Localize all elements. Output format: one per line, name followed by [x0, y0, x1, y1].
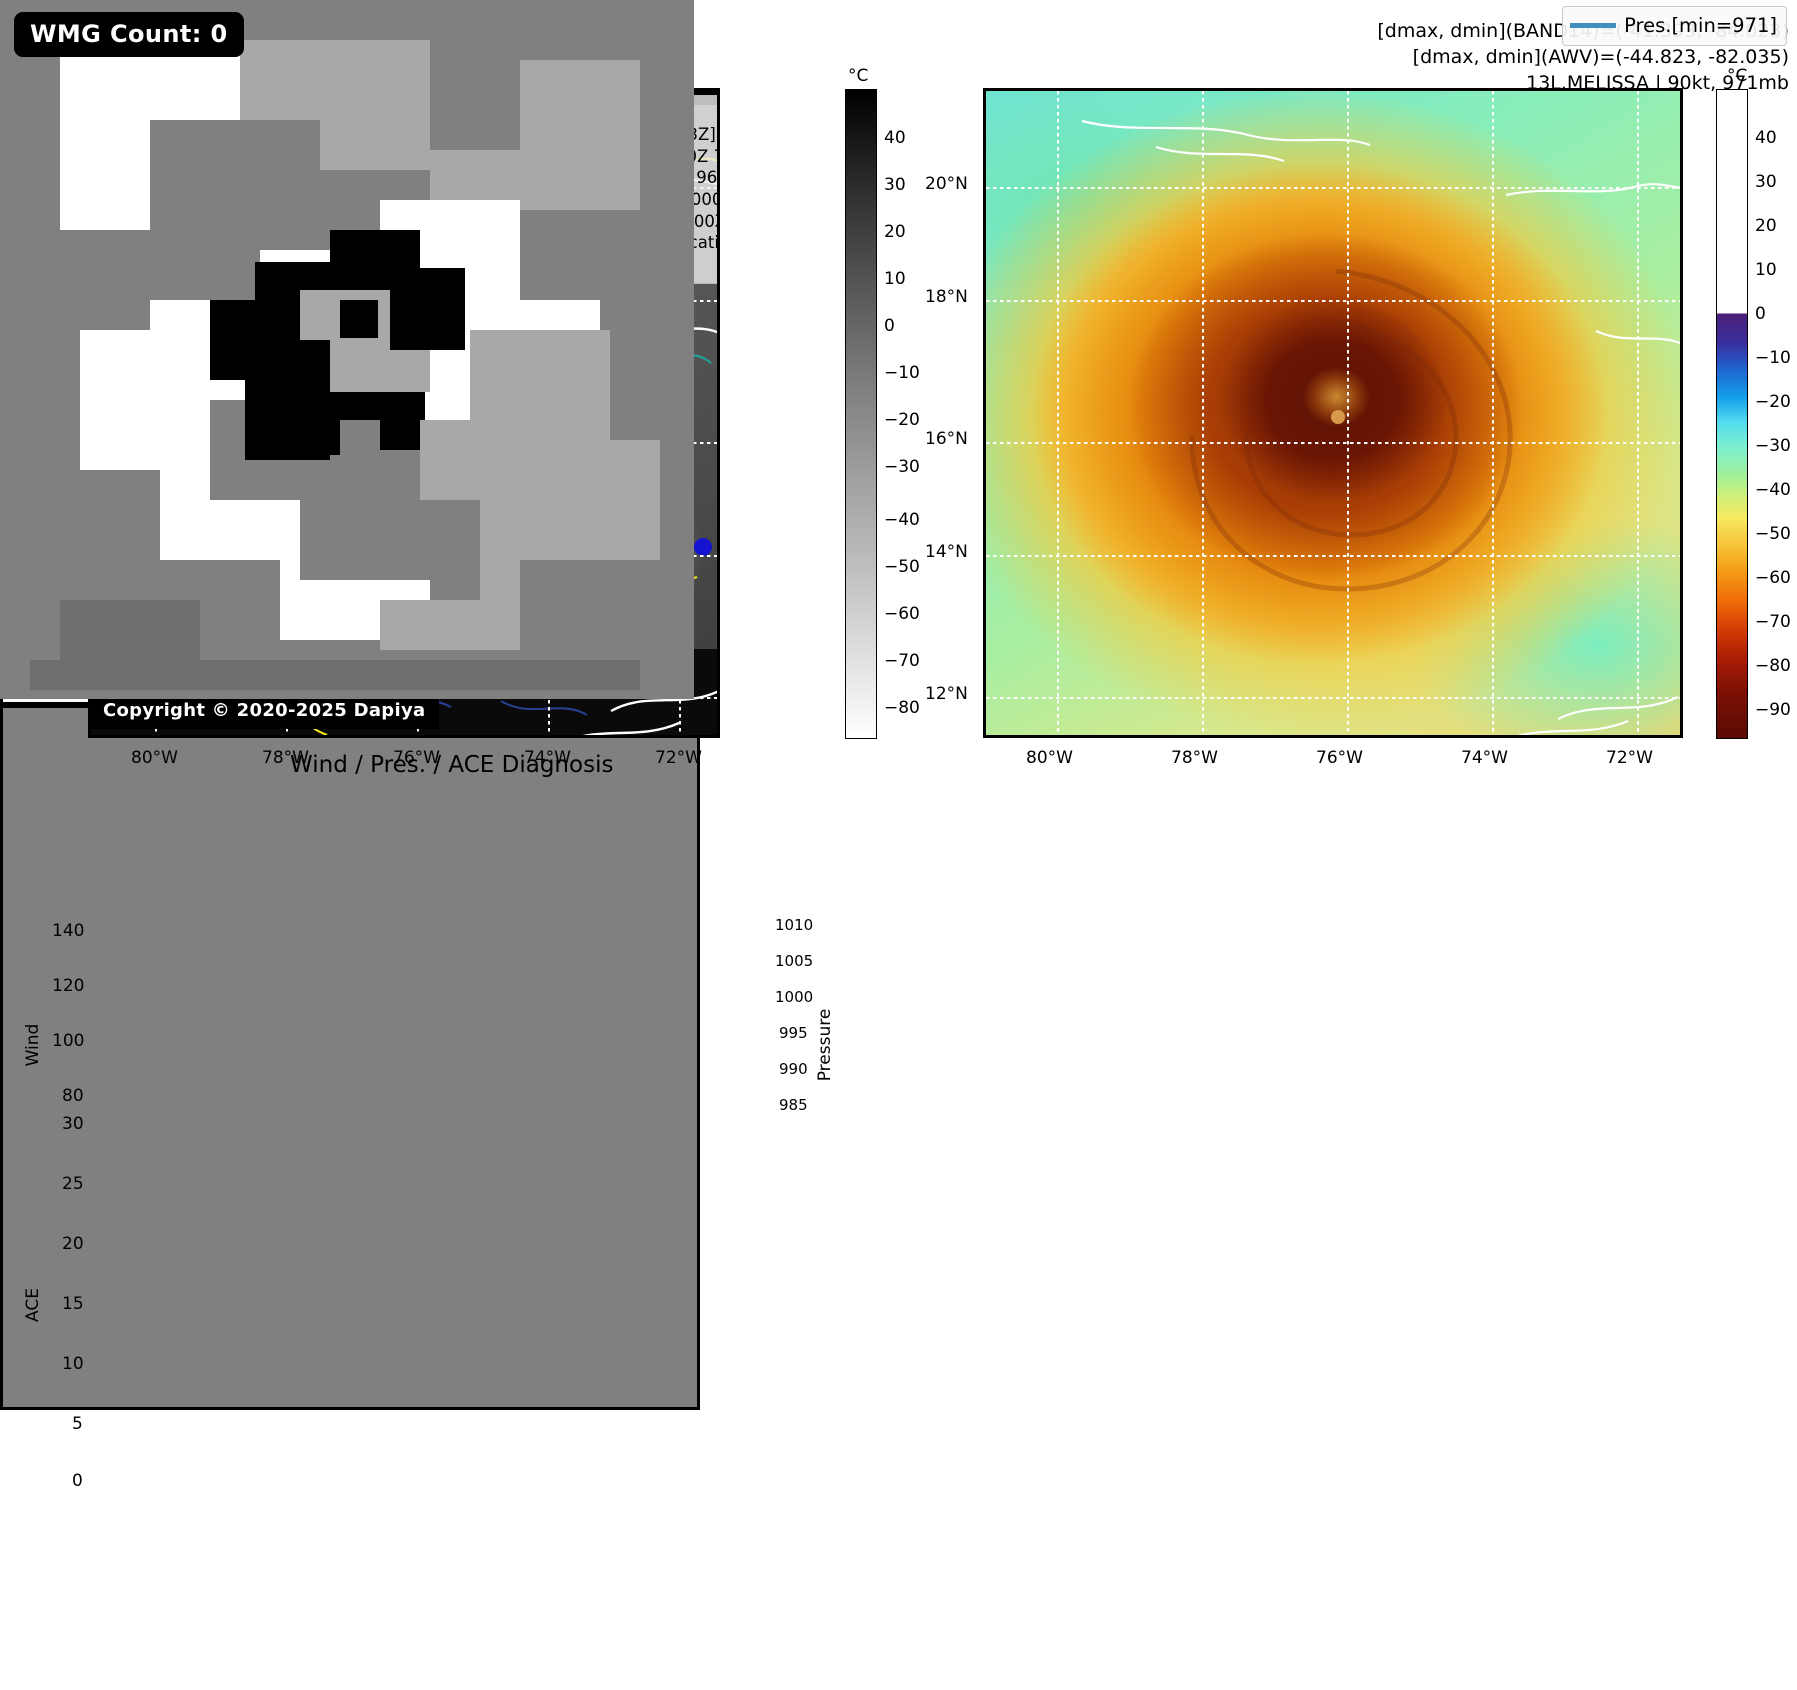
ir-cb-40: 40	[884, 128, 906, 148]
awv-colorbar-unit: °C	[1727, 66, 1747, 86]
pres-tick-985: 985	[779, 1096, 808, 1114]
awv-lat-12n: 12°N	[925, 684, 968, 704]
ir-cb-m20: −20	[884, 410, 920, 430]
ir-cb-m10: −10	[884, 363, 920, 383]
awv-cb-30: 30	[1755, 172, 1777, 192]
awv-colorbar	[1716, 89, 1748, 739]
wind-tick-140: 140	[52, 921, 84, 941]
awv-lon-72w: 72°W	[1606, 748, 1653, 768]
ir-lon-72w: 72°W	[655, 748, 702, 768]
wind-axis-label: Wind	[23, 1010, 43, 1080]
wind-tick-120: 120	[52, 976, 84, 996]
awv-cb-m60: −60	[1755, 568, 1791, 588]
awv-lon-80w: 80°W	[1026, 748, 1073, 768]
awv-cb-0: 0	[1755, 304, 1766, 324]
awv-lon-76w: 76°W	[1316, 748, 1363, 768]
ir-colorbar	[845, 89, 877, 739]
awv-cb-m40: −40	[1755, 480, 1791, 500]
ace-tick-15: 15	[62, 1294, 84, 1314]
awv-lat-20n: 20°N	[925, 174, 968, 194]
pressure-axis-label: Pressure	[815, 990, 835, 1100]
awv-enhanced-ir-map[interactable]	[983, 88, 1683, 738]
diagnosis-title: Wind / Pres. / ACE Diagnosis	[290, 752, 613, 778]
awv-cb-40: 40	[1755, 128, 1777, 148]
awv-lat-16n: 16°N	[925, 429, 968, 449]
ir-colorbar-unit: °C	[848, 66, 868, 86]
ir-cb-m50: −50	[884, 557, 920, 577]
wmg-analysis-panel[interactable]: WMG Count: 0	[0, 705, 700, 1410]
legend-row: Pres.[min=971]	[1570, 12, 1777, 39]
awv-cb-m50: −50	[1755, 524, 1791, 544]
awv-cb-m30: −30	[1755, 436, 1791, 456]
pressure-legend[interactable]: Pres.[min=971]	[1562, 6, 1787, 46]
legend-label: Pres.[min=971]	[1624, 14, 1777, 37]
pres-tick-1010: 1010	[775, 916, 813, 934]
pressure-line-icon	[1570, 23, 1624, 28]
pres-tick-1005: 1005	[775, 952, 813, 970]
ir-cb-m60: −60	[884, 604, 920, 624]
ir-cb-m40: −40	[884, 510, 920, 530]
ace-tick-10: 10	[62, 1354, 84, 1374]
ir-cb-m30: −30	[884, 457, 920, 477]
awv-lon-78w: 78°W	[1171, 748, 1218, 768]
pres-tick-1000: 1000	[775, 988, 813, 1006]
awv-overlays	[986, 91, 1683, 738]
awv-cb-m90: −90	[1755, 700, 1791, 720]
awv-cb-m70: −70	[1755, 612, 1791, 632]
ir-cb-0: 0	[884, 316, 895, 336]
wind-tick-80: 80	[62, 1086, 84, 1106]
ace-tick-0: 0	[72, 1471, 83, 1491]
wind-tick-100: 100	[52, 1031, 84, 1051]
ir-cb-20: 20	[884, 222, 906, 242]
pres-tick-990: 990	[779, 1060, 808, 1078]
awv-lat-14n: 14°N	[925, 542, 968, 562]
awv-lat-18n: 18°N	[925, 287, 968, 307]
awv-cb-10: 10	[1755, 260, 1777, 280]
awv-cb-m80: −80	[1755, 656, 1791, 676]
awv-lon-74w: 74°W	[1461, 748, 1508, 768]
pres-tick-995: 995	[779, 1024, 808, 1042]
ace-tick-30: 30	[62, 1114, 84, 1134]
ir-lon-80w: 80°W	[131, 748, 178, 768]
ir-cb-10: 10	[884, 269, 906, 289]
ace-tick-5: 5	[72, 1414, 83, 1434]
awv-cb-m20: −20	[1755, 392, 1791, 412]
ace-tick-20: 20	[62, 1234, 84, 1254]
ir-cb-m70: −70	[884, 651, 920, 671]
awv-cb-m10: −10	[1755, 348, 1791, 368]
ace-tick-25: 25	[62, 1174, 84, 1194]
awv-cb-20: 20	[1755, 216, 1777, 236]
ir-cb-30: 30	[884, 175, 906, 195]
ace-axis-label: ACE	[23, 1270, 43, 1340]
ir-cb-m80: −80	[884, 698, 920, 718]
